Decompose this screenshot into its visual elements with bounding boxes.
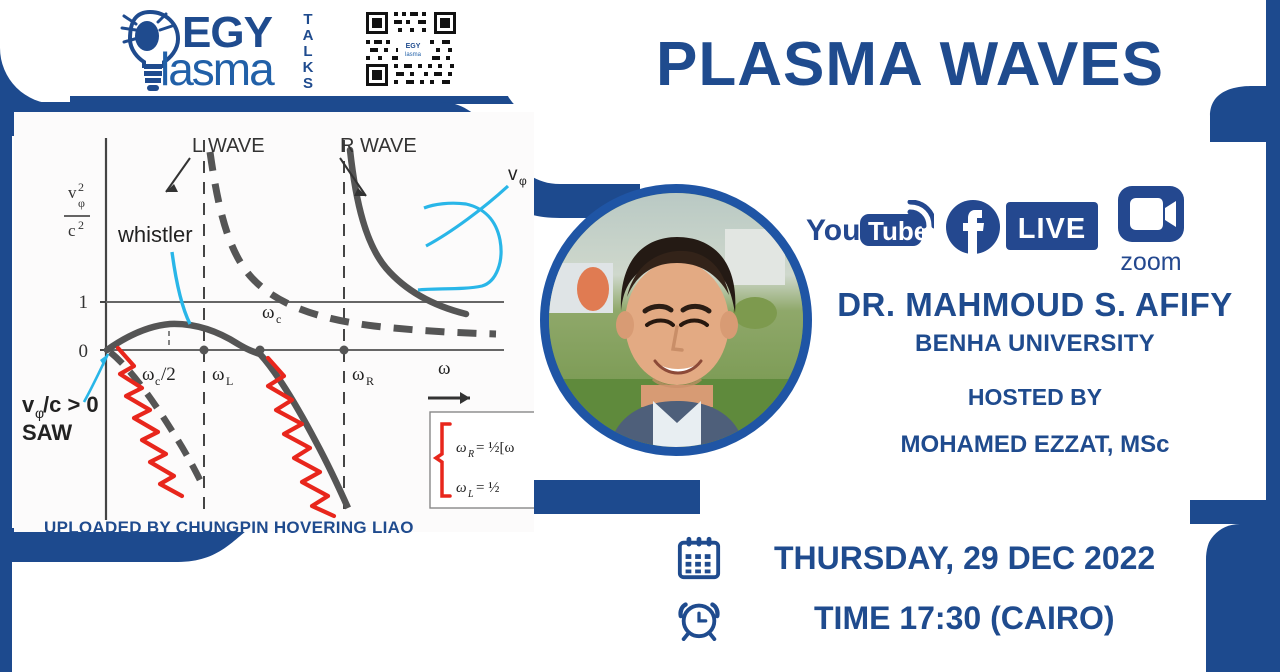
qr-code[interactable]: EGY lasma [358, 6, 466, 94]
youtube-icon[interactable]: You Tube [806, 200, 934, 256]
speaker-avatar [540, 184, 812, 456]
label-whistler: whistler [117, 222, 193, 247]
zoom-icon[interactable]: zoom [1114, 186, 1196, 278]
svg-text:ω: ω [456, 440, 467, 456]
svg-text:L: L [226, 374, 233, 388]
schedule-date-row: THURSDAY, 29 DEC 2022 [676, 528, 1236, 588]
svg-text:R: R [467, 449, 474, 460]
dispersion-chart: v 2 φ c 2 1 0 L WAVE [14, 112, 534, 532]
label-l-wave: L WAVE [192, 135, 265, 157]
svg-text:EGY: EGY [406, 43, 421, 50]
speaker-info: DR. MAHMOUD S. AFIFY BENHA UNIVERSITY HO… [800, 286, 1270, 459]
svg-text:2: 2 [78, 180, 84, 194]
alarm-clock-icon [676, 595, 722, 641]
svg-text:R: R [366, 374, 374, 388]
schedule-date: THURSDAY, 29 DEC 2022 [774, 540, 1155, 577]
svg-text:SAW: SAW [22, 420, 72, 445]
live-badge: LIVE [1006, 202, 1098, 250]
svg-text:φ: φ [519, 174, 527, 188]
ytick-0: 0 [79, 341, 89, 362]
svg-text:= ½: = ½ [476, 480, 499, 496]
svg-text:φ: φ [78, 196, 85, 210]
svg-text:v: v [68, 183, 77, 202]
svg-text:/c > 0: /c > 0 [43, 392, 99, 417]
schedule-time: TIME 17:30 (CAIRO) [814, 600, 1114, 637]
svg-text:L: L [467, 489, 474, 500]
svg-text:v: v [508, 164, 518, 185]
xaxis-omega: ω [438, 358, 451, 379]
logo-talks-text: TALKS [298, 12, 318, 92]
svg-text:/2: /2 [161, 364, 176, 385]
speaker-affiliation: BENHA UNIVERSITY [800, 330, 1270, 358]
chart-svg: v 2 φ c 2 1 0 L WAVE [14, 112, 534, 532]
qr-code-icon: EGY lasma [358, 6, 466, 94]
svg-text:= ½[ω: = ½[ω [476, 440, 514, 456]
svg-text:LIVE: LIVE [1018, 213, 1086, 245]
svg-text:c: c [155, 374, 160, 388]
brand-logo[interactable]: EGY lasma TALKS [120, 4, 330, 96]
speaker-photo [549, 193, 805, 449]
formula-box: ω R = ½[ω ω L = ½ [430, 412, 534, 508]
svg-text:lasma: lasma [405, 52, 422, 58]
svg-text:You: You [806, 214, 860, 247]
xtick-wc: ω [262, 302, 275, 323]
svg-text:zoom: zoom [1120, 248, 1181, 276]
facebook-icon[interactable] [944, 198, 1002, 256]
broadcast-platforms: You Tube LIVE zoom [806, 186, 1176, 272]
svg-text:c: c [68, 221, 76, 240]
logo-plasma-text: lasma [160, 42, 273, 96]
uploader-credit: UPLOADED BY CHUNGPIN HOVERING LIAO [44, 518, 414, 538]
svg-text:2: 2 [78, 218, 84, 232]
schedule-block: THURSDAY, 29 DEC 2022 TIME 17:30 (CAIRO) [676, 528, 1236, 648]
header-band-corner [0, 0, 70, 104]
webinar-poster: EGY lasma TALKS [0, 0, 1280, 672]
xtick-wR: ω [352, 364, 365, 385]
speaker-name: DR. MAHMOUD S. AFIFY [800, 286, 1270, 324]
label-r-wave: R WAVE [340, 135, 417, 157]
left-frame-bar [0, 96, 12, 672]
page-title: PLASMA WAVES [560, 22, 1260, 106]
xtick-wL: ω [212, 364, 225, 385]
svg-text:ω: ω [456, 480, 467, 496]
hosted-by-label: HOSTED BY [800, 384, 1270, 411]
schedule-time-row: TIME 17:30 (CAIRO) [676, 588, 1236, 648]
calendar-icon [676, 535, 722, 581]
svg-text:Tube: Tube [868, 216, 928, 246]
ytick-1: 1 [79, 292, 89, 313]
svg-text:v: v [22, 392, 35, 417]
svg-text:c: c [276, 312, 281, 326]
xtick-wc-half: ω [142, 364, 155, 385]
host-name: MOHAMED EZZAT, MSc [800, 431, 1270, 459]
